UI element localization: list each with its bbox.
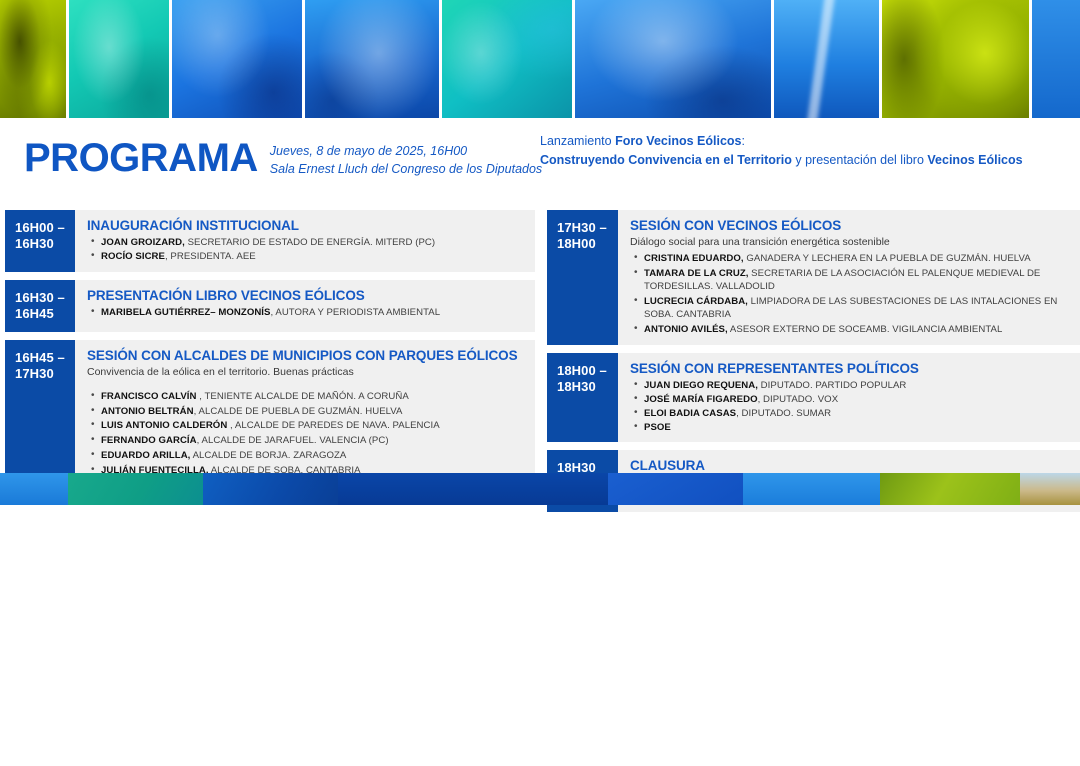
book-title: Vecinos Eólicos [927, 153, 1022, 167]
duotone-overlay [442, 0, 572, 118]
banner-slice-portrait-teal-woman [69, 0, 172, 118]
speaker-name: JOSÉ MARÍA FIGAREDO [644, 394, 758, 405]
session-title: SESIÓN CON VECINOS EÓLICOS [630, 218, 1072, 234]
list-item: LUCRECIA CÁRDABA, LIMPIADORA DE LAS SUBE… [644, 295, 1072, 321]
footer-slice-blue-turbine [203, 473, 338, 505]
session-title: SESIÓN CON REPRESENTANTES POLÍTICOS [630, 361, 1072, 377]
session-title: INAUGURACIÓN INSTITUCIONAL [87, 218, 527, 234]
speaker-role: , DIPUTADO. SUMAR [736, 408, 831, 419]
footer-slice-royal-blue [608, 473, 743, 505]
speaker-name: CRISTINA EDUARDO, [644, 253, 744, 264]
session-body: INAUGURACIÓN INSTITUCIONAL JOAN GROIZARD… [75, 210, 535, 272]
list-item: ANTONIO BELTRÁN, ALCALDE DE PUEBLA DE GU… [101, 405, 527, 418]
speaker-name: EDUARDO ARILLA, [101, 450, 190, 461]
top-photo-banner [0, 0, 1080, 118]
footer-slice-sky [0, 473, 68, 505]
speaker-role: , AUTORA Y PERIODISTA AMBIENTAL [270, 307, 440, 318]
speaker-list: MARIBELA GUTIÉRREZ– MONZONÍS, AUTORA Y P… [87, 306, 527, 319]
footer-slice-teal-field [68, 473, 203, 505]
schedule-block: 16H45 – 17H30 SESIÓN CON ALCALDES DE MUN… [5, 340, 535, 486]
duotone-overlay [575, 0, 771, 118]
list-item: MARIBELA GUTIÉRREZ– MONZONÍS, AUTORA Y P… [101, 306, 527, 319]
list-item: CRISTINA EDUARDO, GANADERA Y LECHERA EN … [644, 252, 1072, 265]
speaker-name: JOAN GROIZARD, [101, 237, 185, 248]
duotone-overlay [172, 0, 302, 118]
schedule-block: 17H30 – 18H00 SESIÓN CON VECINOS EÓLICOS… [547, 210, 1080, 345]
schedule-block: 18H00 – 18H30 SESIÓN CON REPRESENTANTES … [547, 353, 1080, 442]
speaker-name: FRANCISCO CALVÍN [101, 391, 197, 402]
event-subtitle-block: Lanzamiento Foro Vecinos Eólicos: Constr… [540, 132, 1023, 171]
schedule-block: 16H30 – 16H45 PRESENTACIÓN LIBRO VECINOS… [5, 280, 535, 333]
program-schedule: 16H00 – 16H30 INAUGURACIÓN INSTITUCIONAL… [0, 210, 1080, 478]
speaker-name: TAMARA DE LA CRUZ, [644, 268, 748, 279]
list-item: ROCÍO SICRE, PRESIDENTA. AEE [101, 250, 527, 263]
session-time: 16H30 – 16H45 [5, 280, 75, 333]
speaker-name: ANTONIO AVILÉS, [644, 324, 728, 335]
banner-slice-portrait-blue-shoulder [305, 0, 442, 118]
speaker-list: FRANCISCO CALVÍN , TENIENTE ALCALDE DE M… [87, 390, 527, 477]
footer-slice-field-turbine [1020, 473, 1080, 505]
speaker-role: DIPUTADO. PARTIDO POPULAR [758, 380, 906, 391]
list-item: TAMARA DE LA CRUZ, SECRETARIA DE LA ASOC… [644, 267, 1072, 293]
list-item: ELOI BADIA CASAS, DIPUTADO. SUMAR [644, 407, 1072, 420]
list-item: LUIS ANTONIO CALDERÓN , ALCALDE DE PARED… [101, 419, 527, 432]
banner-slice-portrait-teal-blonde-woman [442, 0, 575, 118]
speaker-name: FERNANDO GARCÍA [101, 435, 197, 446]
speaker-role: SECRETARIO DE ESTADO DE ENERGÍA. MITERD … [185, 237, 435, 248]
banner-slice-portrait-olive-man [882, 0, 1032, 118]
list-item: ANTONIO AVILÉS, ASESOR EXTERNO DE SOCEAM… [644, 323, 1072, 336]
speaker-name: ANTONIO BELTRÁN [101, 406, 194, 417]
bottom-photo-strip [0, 473, 1080, 505]
speaker-name: MARIBELA GUTIÉRREZ– MONZONÍS [101, 307, 270, 318]
session-body: PRESENTACIÓN LIBRO VECINOS EÓLICOS MARIB… [75, 280, 535, 333]
speaker-role: , ALCALDE DE PAREDES DE NAVA. PALENCIA [227, 420, 439, 431]
speaker-name: LUCRECIA CÁRDABA, [644, 296, 748, 307]
event-venue: Sala Ernest Lluch del Congreso de los Di… [270, 160, 542, 178]
session-body: SESIÓN CON VECINOS EÓLICOS Diálogo socia… [618, 210, 1080, 345]
session-body: SESIÓN CON REPRESENTANTES POLÍTICOS JUAN… [618, 353, 1080, 442]
session-subtitle: Convivencia de la eólica en el territori… [87, 366, 527, 380]
session-time: 16H45 – 17H30 [5, 340, 75, 486]
duotone-overlay [0, 0, 66, 118]
speaker-role: , ALCALDE DE JARAFUEL. VALENCIA (PC) [197, 435, 389, 446]
event-date: Jueves, 8 de mayo de 2025, 16H00 [270, 142, 542, 160]
duotone-overlay [1032, 0, 1080, 118]
session-time: 17H30 – 18H00 [547, 210, 618, 345]
session-subtitle: Diálogo social para una transición energ… [630, 236, 1072, 250]
banner-slice-portrait-blue-bearded-man [172, 0, 305, 118]
speaker-list: CRISTINA EDUARDO, GANADERA Y LECHERA EN … [630, 252, 1072, 336]
page-title: PROGRAMA [24, 138, 258, 178]
speaker-role: , DIPUTADO. VOX [758, 394, 839, 405]
speaker-role: , TENIENTE ALCALDE DE MAÑÓN. A CORUÑA [197, 391, 409, 402]
list-item: JOSÉ MARÍA FIGAREDO, DIPUTADO. VOX [644, 393, 1072, 406]
program-header: PROGRAMA Jueves, 8 de mayo de 2025, 16H0… [0, 118, 1080, 210]
list-item: FRANCISCO CALVÍN , TENIENTE ALCALDE DE M… [101, 390, 527, 403]
list-item: JUAN DIEGO REQUENA, DIPUTADO. PARTIDO PO… [644, 379, 1072, 392]
speaker-role: ASESOR EXTERNO DE SOCEAMB. VIGILANCIA AM… [728, 324, 1003, 335]
book-presentation-text: y presentación del libro [792, 153, 928, 167]
footer-slice-green-field [880, 473, 1020, 505]
session-title: SESIÓN CON ALCALDES DE MUNICIPIOS CON PA… [87, 348, 527, 364]
list-item: FERNANDO GARCÍA, ALCALDE DE JARAFUEL. VA… [101, 434, 527, 447]
schedule-column-left: 16H00 – 16H30 INAUGURACIÓN INSTITUCIONAL… [5, 210, 535, 494]
footer-slice-sky-blue [743, 473, 880, 505]
list-item: PSOE [644, 421, 1072, 434]
speaker-name: ELOI BADIA CASAS [644, 408, 736, 419]
banner-slice-portrait-blue-elder-man [575, 0, 774, 118]
launch-forum-name: Foro Vecinos Eólicos [615, 134, 741, 148]
event-theme: Construyendo Convivencia en el Territori… [540, 153, 792, 167]
speaker-name: JUAN DIEGO REQUENA, [644, 380, 758, 391]
speaker-list: JOAN GROIZARD, SECRETARIO DE ESTADO DE E… [87, 236, 527, 263]
session-time: 16H00 – 16H30 [5, 210, 75, 272]
session-body: SESIÓN CON ALCALDES DE MUNICIPIOS CON PA… [75, 340, 535, 486]
footer-slice-deep-blue [338, 473, 608, 505]
speaker-role: GANADERA Y LECHERA EN LA PUEBLA DE GUZMÁ… [744, 253, 1031, 264]
list-item: EDUARDO ARILLA, ALCALDE DE BORJA. ZARAGO… [101, 449, 527, 462]
duotone-overlay [882, 0, 1029, 118]
launch-colon: : [742, 134, 745, 148]
schedule-block: 16H00 – 16H30 INAUGURACIÓN INSTITUCIONAL… [5, 210, 535, 272]
session-title: PRESENTACIÓN LIBRO VECINOS EÓLICOS [87, 288, 527, 304]
speaker-name: PSOE [644, 422, 671, 433]
session-time: 18H00 – 18H30 [547, 353, 618, 442]
event-meta: Jueves, 8 de mayo de 2025, 16H00 Sala Er… [270, 142, 542, 178]
event-launch-line: Lanzamiento Foro Vecinos Eólicos: [540, 132, 1023, 151]
speaker-name: LUIS ANTONIO CALDERÓN [101, 420, 227, 431]
speaker-role: ALCALDE DE BORJA. ZARAGOZA [190, 450, 346, 461]
banner-slice-sky-turbine [774, 0, 883, 118]
duotone-overlay [69, 0, 169, 118]
speaker-name: ROCÍO SICRE [101, 251, 165, 262]
speaker-role: , PRESIDENTA. AEE [165, 251, 256, 262]
duotone-overlay [305, 0, 439, 118]
launch-prefix: Lanzamiento [540, 134, 615, 148]
speaker-list: JUAN DIEGO REQUENA, DIPUTADO. PARTIDO PO… [630, 379, 1072, 433]
banner-slice-portrait-yellow-hair [0, 0, 69, 118]
speaker-role: , ALCALDE DE PUEBLA DE GUZMÁN. HUELVA [194, 406, 403, 417]
banner-slice-sky-blue-edge [1032, 0, 1080, 118]
event-book-line: Construyendo Convivencia en el Territori… [540, 151, 1023, 170]
list-item: JOAN GROIZARD, SECRETARIO DE ESTADO DE E… [101, 236, 527, 249]
